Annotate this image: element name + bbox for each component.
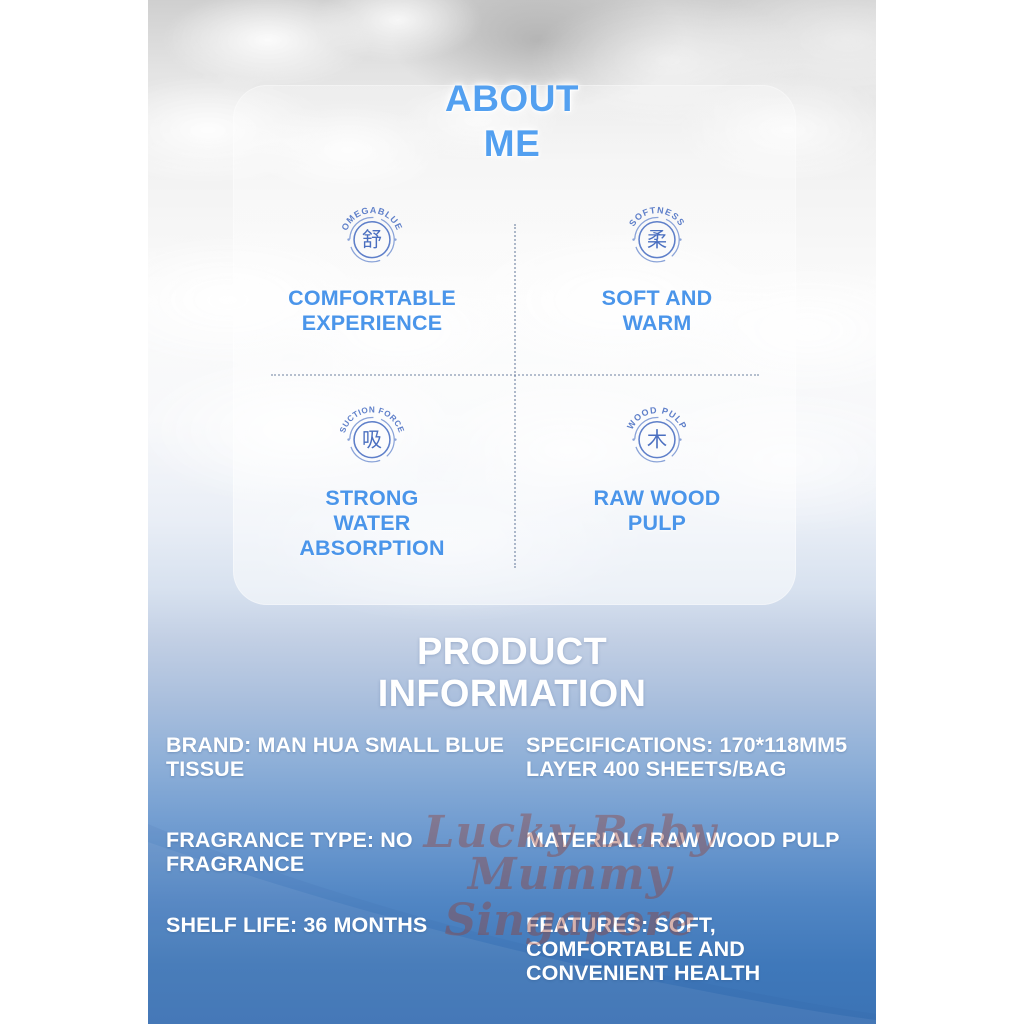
badge-glyph-0: 舒 — [362, 228, 382, 252]
badge-glyph-1: 柔 — [647, 228, 667, 252]
feature-label-1-line-2: WARM — [623, 311, 692, 335]
feature-label-2-line-3: ABSORPTION — [299, 536, 444, 560]
feature-item-comfortable-experience: OMEGABLUE 舒 COMFORTABLE EXPERIENCE — [253, 196, 491, 336]
horizontal-dotted-divider — [271, 374, 759, 376]
spec-brand: BRAND: MAN HUA SMALL BLUE TISSUE — [166, 733, 526, 828]
feature-label-1: SOFT AND WARM — [538, 286, 776, 336]
product-specification-grid: BRAND: MAN HUA SMALL BLUE TISSUE SPECIFI… — [166, 733, 866, 1008]
spec-shelf-life: SHELF LIFE: 36 MONTHS — [166, 913, 526, 1008]
spec-specifications: SPECIFICATIONS: 170*118MM5 LAYER 400 SHE… — [526, 733, 866, 828]
infographic-canvas: ABOUT ME OMEGABLUE 舒 — [0, 0, 1024, 1024]
spec-material: MATERIAL: RAW WOOD PULP — [526, 828, 866, 913]
svg-text:SOFTNESS: SOFTNESS — [627, 205, 687, 228]
spec-row: SHELF LIFE: 36 MONTHS FEATURES: SOFT, CO… — [166, 913, 866, 1008]
product-information-title: PRODUCT INFORMATION — [0, 632, 1024, 716]
feature-item-raw-wood-pulp: WOOD PULP 木 RAW WOOD PULP — [538, 396, 776, 536]
spec-features: FEATURES: SOFT, COMFORTABLE AND CONVENIE… — [526, 913, 866, 1008]
about-title-line-2: ME — [0, 121, 1024, 166]
feature-label-1-line-1: SOFT AND — [602, 286, 713, 310]
feature-label-2-line-2: WATER — [333, 511, 410, 535]
feature-label-3: RAW WOOD PULP — [538, 486, 776, 536]
spec-row: BRAND: MAN HUA SMALL BLUE TISSUE SPECIFI… — [166, 733, 866, 828]
feature-grid: OMEGABLUE 舒 COMFORTABLE EXPERIENCE — [253, 196, 776, 596]
product-info-title-line-1: PRODUCT — [0, 632, 1024, 674]
suction-force-seal-icon: SUCTION FORCE 吸 — [333, 396, 411, 474]
about-title-line-1: ABOUT — [0, 76, 1024, 121]
feature-label-2-line-1: STRONG — [325, 486, 418, 510]
feature-item-strong-water-absorption: SUCTION FORCE 吸 STRONG WATER ABSORPTION — [253, 396, 491, 561]
feature-label-3-line-1: RAW WOOD — [594, 486, 721, 510]
softness-seal-icon: SOFTNESS 柔 — [618, 196, 696, 274]
feature-item-soft-and-warm: SOFTNESS 柔 SOFT AND WARM — [538, 196, 776, 336]
wood-pulp-seal-icon: WOOD PULP 木 — [618, 396, 696, 474]
feature-label-0: COMFORTABLE EXPERIENCE — [253, 286, 491, 336]
feature-label-2: STRONG WATER ABSORPTION — [253, 486, 491, 561]
vertical-dotted-divider — [514, 224, 516, 568]
product-info-title-line-2: INFORMATION — [0, 674, 1024, 716]
badge-glyph-2: 吸 — [362, 428, 382, 452]
badge-arc-text-1: SOFTNESS — [627, 205, 687, 228]
about-me-title: ABOUT ME — [0, 76, 1024, 166]
spec-row: FRAGRANCE TYPE: NO FRAGRANCE MATERIAL: R… — [166, 828, 866, 913]
badge-glyph-3: 木 — [647, 428, 667, 452]
feature-label-0-line-1: COMFORTABLE — [288, 286, 456, 310]
spec-fragrance-type: FRAGRANCE TYPE: NO FRAGRANCE — [166, 828, 526, 913]
omegablue-seal-icon: OMEGABLUE 舒 — [333, 196, 411, 274]
feature-label-0-line-2: EXPERIENCE — [302, 311, 443, 335]
feature-label-3-line-2: PULP — [628, 511, 686, 535]
